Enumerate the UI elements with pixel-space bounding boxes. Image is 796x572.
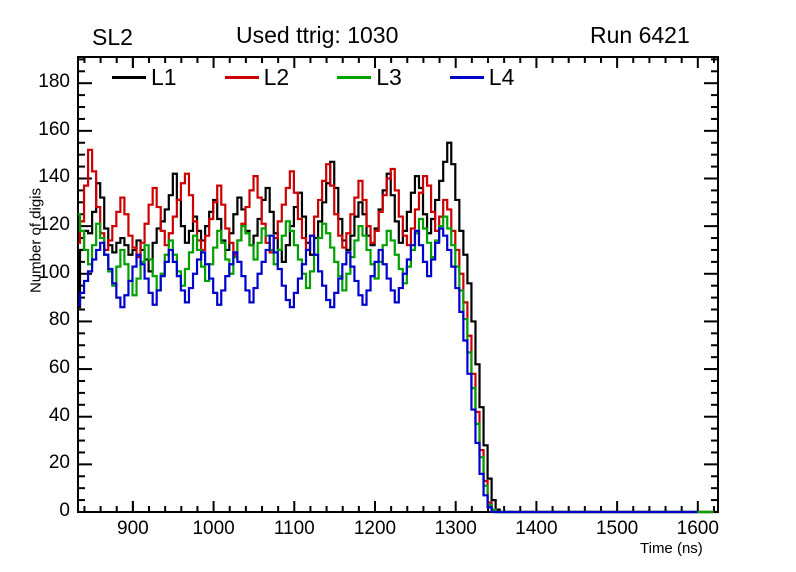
run-label: Run 6421 xyxy=(590,22,690,49)
y-axis-title: Number of digis xyxy=(28,171,45,311)
legend-label-l4: L4 xyxy=(489,66,515,89)
x-tick-label: 1500 xyxy=(587,518,647,540)
x-tick-label: 1300 xyxy=(426,518,486,540)
y-tick-label: 140 xyxy=(26,166,70,188)
y-tick-label: 60 xyxy=(26,357,70,379)
legend-entry-l2: L2 xyxy=(225,66,290,89)
y-tick-label: 120 xyxy=(26,214,70,236)
x-tick-label: 1200 xyxy=(345,518,405,540)
legend-label-l3: L3 xyxy=(376,66,402,89)
y-tick-label: 180 xyxy=(26,71,70,93)
x-tick-label: 1600 xyxy=(668,518,728,540)
y-tick-label: 160 xyxy=(26,119,70,141)
y-tick-label: 100 xyxy=(26,262,70,284)
y-tick-label: 40 xyxy=(26,405,70,427)
legend-entry-l1: L1 xyxy=(112,66,177,89)
legend-swatch-l2 xyxy=(225,76,259,79)
legend-swatch-l3 xyxy=(337,76,371,79)
legend-swatch-l1 xyxy=(112,76,146,79)
x-axis-title: Time (ns) xyxy=(640,540,703,557)
legend-label-l2: L2 xyxy=(264,66,290,89)
x-tick-label: 1400 xyxy=(506,518,566,540)
y-tick-label: 80 xyxy=(26,309,70,331)
legend-label-l1: L1 xyxy=(151,66,177,89)
ttrig-title: Used ttrig: 1030 xyxy=(236,22,398,49)
sl-label: SL2 xyxy=(92,24,133,51)
y-tick-label: 0 xyxy=(26,500,70,522)
x-tick-label: 1100 xyxy=(264,518,324,540)
legend-entry-l3: L3 xyxy=(337,66,402,89)
y-tick-label: 20 xyxy=(26,452,70,474)
x-tick-label: 900 xyxy=(103,518,163,540)
x-tick-label: 1000 xyxy=(184,518,244,540)
legend-swatch-l4 xyxy=(450,76,484,79)
legend-entry-l4: L4 xyxy=(450,66,515,89)
legend: L1L2L3L4 xyxy=(112,62,582,92)
